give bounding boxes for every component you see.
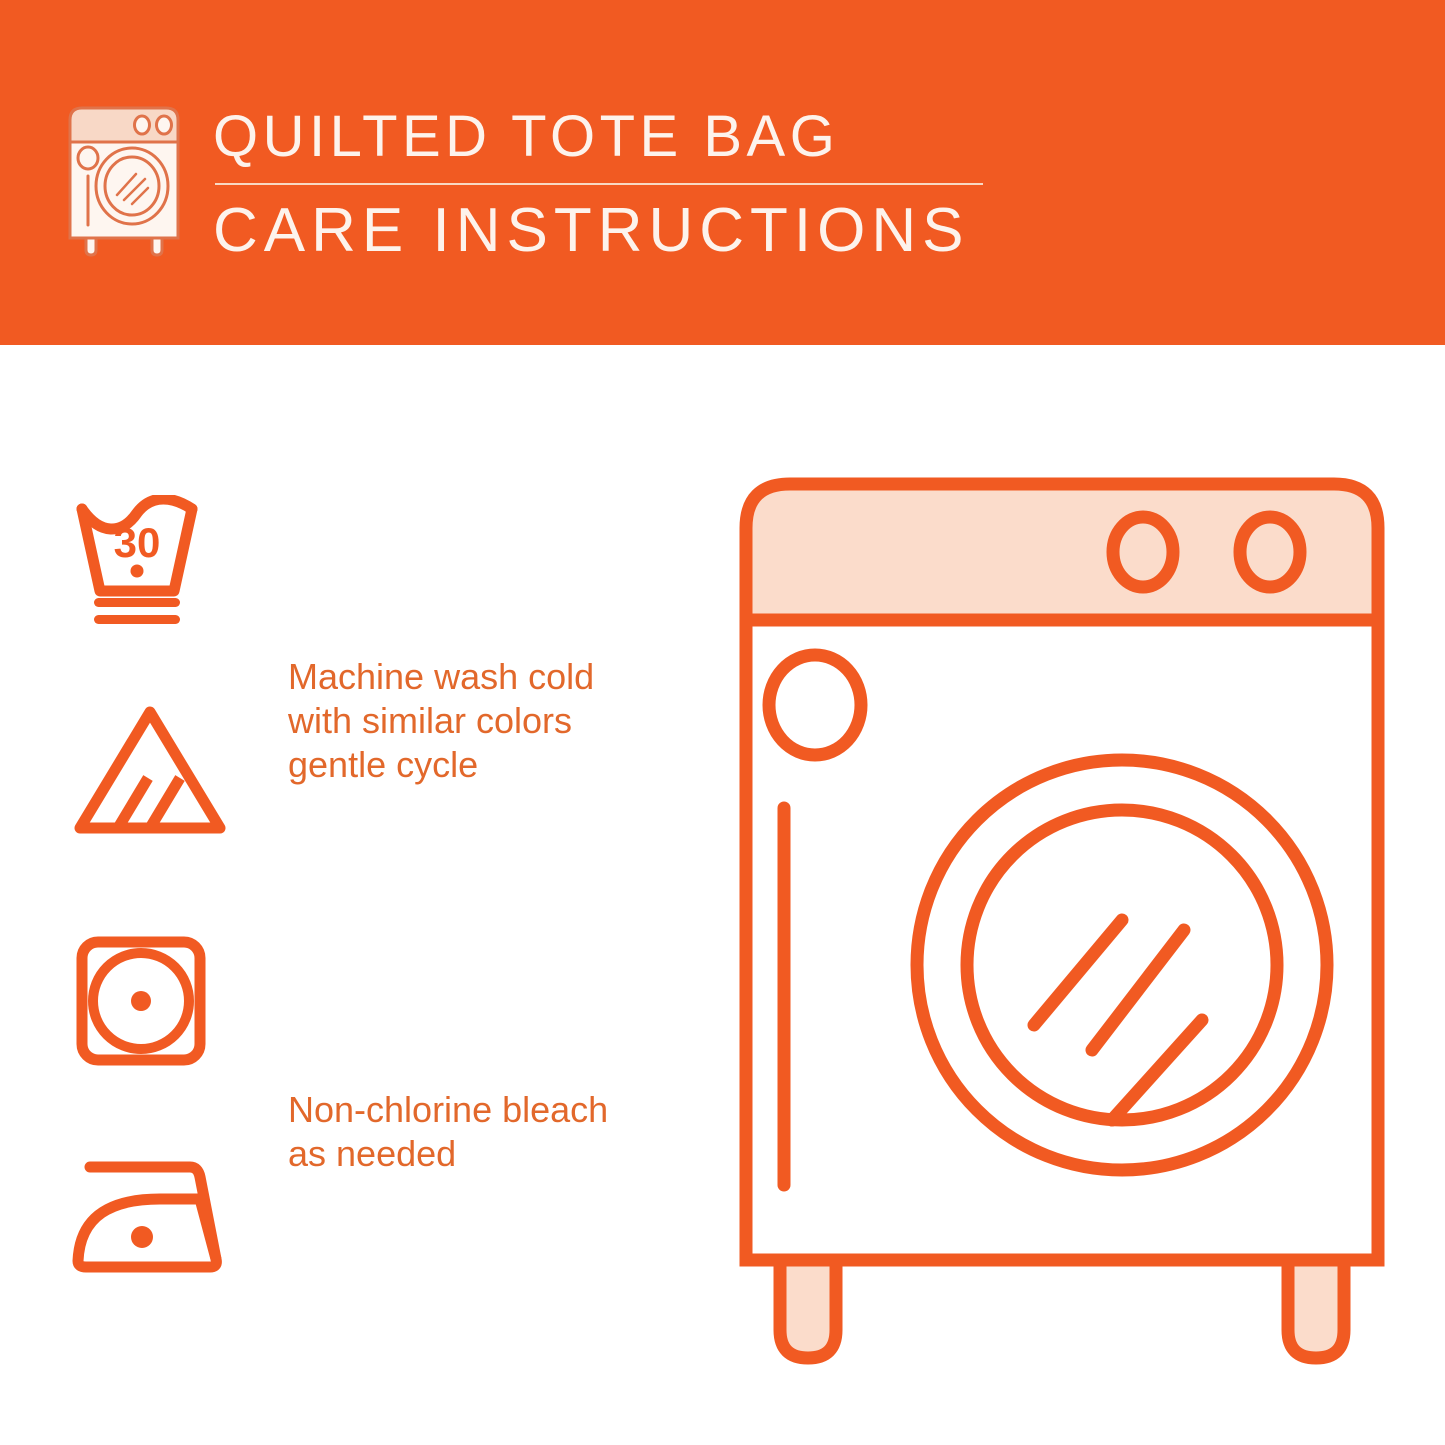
bleach-triangle-icon: [70, 700, 230, 845]
title-divider: [215, 183, 983, 185]
care-instructions-page: QUILTED TOTE BAG CARE INSTRUCTIONS 30: [0, 0, 1445, 1445]
iron-icon: [70, 1145, 240, 1290]
washing-machine-illustration: [722, 460, 1402, 1380]
care-instruction-list: 30 Machine wash cold with similar colors…: [0, 345, 722, 1445]
wash-temperature-label: 30: [114, 519, 161, 566]
washing-machine-icon: [60, 100, 188, 258]
header-title-block: QUILTED TOTE BAG CARE INSTRUCTIONS: [213, 103, 988, 267]
care-item-bleach-label: Non-chlorine bleach as needed: [288, 1088, 608, 1176]
tumble-dry-icon: [70, 930, 220, 1080]
page-title: QUILTED TOTE BAG: [213, 103, 988, 171]
machine-knob-left: [1113, 517, 1173, 587]
care-item-wash-label: Machine wash cold with similar colors ge…: [288, 655, 594, 787]
machine-knob-right: [1240, 517, 1300, 587]
page-header: QUILTED TOTE BAG CARE INSTRUCTIONS: [0, 0, 1445, 345]
wash-tub-icon: 30: [70, 495, 230, 640]
page-subtitle: CARE INSTRUCTIONS: [213, 195, 988, 267]
machine-leg-left: [780, 1260, 836, 1358]
machine-leg-right: [1288, 1260, 1344, 1358]
